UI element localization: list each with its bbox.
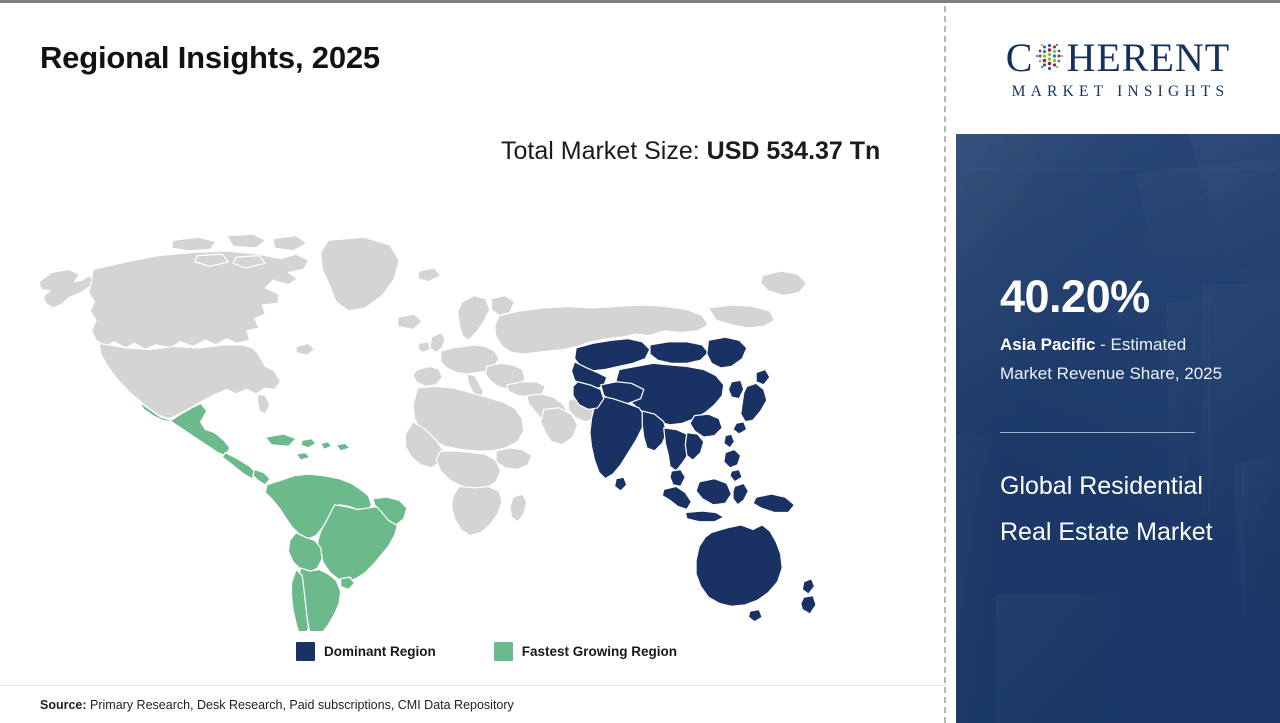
legend-label-fastest-growing: Fastest Growing Region — [522, 644, 677, 659]
slide-frame: Regional Insights, 2025 Total Market Siz… — [0, 0, 1280, 720]
panel-divider — [1000, 432, 1195, 433]
source-divider — [0, 685, 946, 686]
logo-word-rest: HERENT — [1066, 38, 1230, 78]
brand-logo[interactable]: C — [956, 6, 1280, 133]
market-name: Global Residential Real Estate Market — [1000, 464, 1215, 555]
source-note: Source: Primary Research, Desk Research,… — [40, 698, 514, 712]
region-asia-pacific[interactable] — [571, 337, 816, 622]
logo-subtitle: MARKET INSIGHTS — [1007, 83, 1230, 101]
globe-icon — [1034, 42, 1065, 73]
map-legend: Dominant Region Fastest Growing Region — [296, 642, 677, 661]
legend-item-dominant[interactable]: Dominant Region — [296, 642, 436, 661]
stat-percentage: 40.20% — [1000, 274, 1150, 319]
legend-swatch-dominant — [296, 642, 315, 661]
logo-wordmark: C — [1006, 38, 1230, 78]
world-map-svg[interactable] — [28, 231, 818, 631]
region-north-america — [39, 234, 441, 419]
region-latin-america[interactable] — [139, 402, 407, 631]
stat-panel: 40.20% Asia Pacific - Estimated Market R… — [956, 134, 1280, 723]
right-rail: C — [948, 6, 1280, 723]
legend-label-dominant: Dominant Region — [324, 644, 436, 659]
world-map[interactable] — [28, 231, 818, 631]
stat-description: Asia Pacific - Estimated Market Revenue … — [1000, 331, 1238, 389]
legend-swatch-fastest-growing — [494, 642, 513, 661]
total-market-size: Total Market Size: USD 534.37 Tn — [501, 132, 921, 171]
legend-item-fastest-growing[interactable]: Fastest Growing Region — [494, 642, 677, 661]
source-label: Source: — [40, 698, 87, 712]
market-size-label: Total Market Size: — [501, 137, 700, 165]
source-text: Primary Research, Desk Research, Paid su… — [90, 698, 514, 712]
panel-background-texture — [956, 134, 1280, 723]
market-size-value: USD 534.37 Tn — [707, 137, 881, 165]
page-title: Regional Insights, 2025 — [40, 40, 380, 76]
stat-region-name: Asia Pacific — [1000, 335, 1095, 354]
logo-letter-c: C — [1006, 38, 1034, 78]
left-content-pane: Regional Insights, 2025 Total Market Siz… — [0, 6, 946, 723]
